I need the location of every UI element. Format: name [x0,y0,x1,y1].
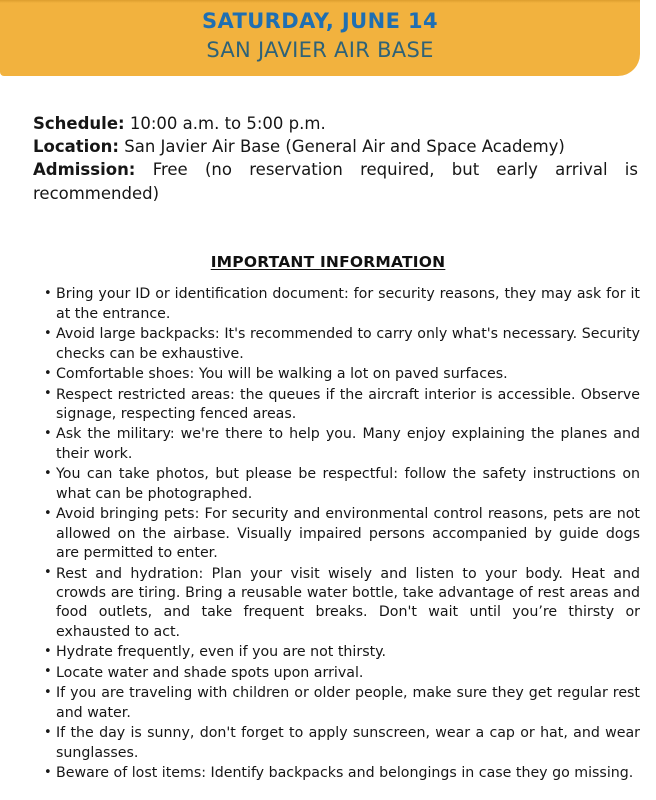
location-line: Location: San Javier Air Base (General A… [33,135,638,158]
important-information-heading: IMPORTANT INFORMATION [0,253,656,271]
banner-top-edge [0,0,640,3]
schedule-value: 10:00 a.m. to 5:00 p.m. [125,114,326,133]
location-value: San Javier Air Base (General Air and Spa… [119,137,565,156]
list-item: You can take photos, but please be respe… [44,465,640,504]
admission-label: Admission: [33,160,135,179]
list-item: Respect restricted areas: the queues if … [44,386,640,425]
important-information-list: Bring your ID or identification document… [44,285,640,783]
list-item: If the day is sunny, don't forget to app… [44,724,640,763]
schedule-line: Schedule: 10:00 a.m. to 5:00 p.m. [33,112,638,135]
event-venue-subtitle: SAN JAVIER AIR BASE [0,37,640,63]
location-label: Location: [33,137,119,156]
event-details-block: Schedule: 10:00 a.m. to 5:00 p.m. Locati… [33,112,638,206]
admission-line: Admission: Free (no reservation required… [33,158,638,205]
event-header-banner: SATURDAY, JUNE 14 SAN JAVIER AIR BASE [0,0,640,76]
list-item: Ask the military: we're there to help yo… [44,425,640,464]
list-item: Bring your ID or identification document… [44,285,640,324]
list-item: Avoid large backpacks: It's recommended … [44,325,640,364]
list-item: Avoid bringing pets: For security and en… [44,505,640,563]
list-item: If you are traveling with children or ol… [44,684,640,723]
list-item: Locate water and shade spots upon arriva… [44,664,640,683]
list-item: Comfortable shoes: You will be walking a… [44,365,640,384]
event-date-title: SATURDAY, JUNE 14 [0,8,640,35]
list-item: Hydrate frequently, even if you are not … [44,643,640,662]
list-item: Beware of lost items: Identify backpacks… [44,764,640,783]
schedule-label: Schedule: [33,114,125,133]
list-item: Rest and hydration: Plan your visit wise… [44,565,640,643]
